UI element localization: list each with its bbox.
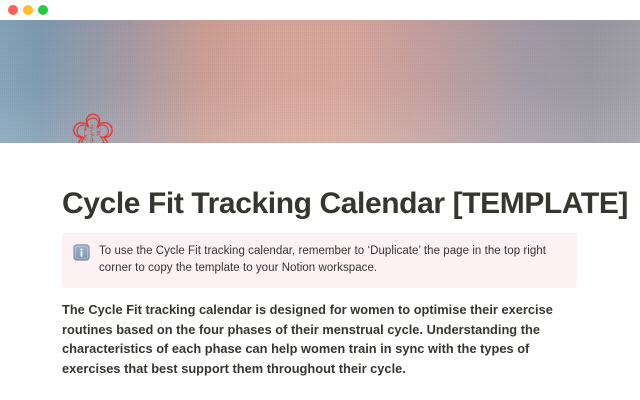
svg-text:た: た xyxy=(83,135,88,142)
traffic-light-buttons xyxy=(8,5,48,15)
maximize-window-button[interactable] xyxy=(38,5,48,15)
callout-block[interactable]: To use the Cycle Fit tracking calendar, … xyxy=(62,233,577,288)
window-titlebar xyxy=(0,0,640,20)
close-window-button[interactable] xyxy=(8,5,18,15)
app-window: 大 変 よ く で き ま し た Cycle Fit Tracking Cal… xyxy=(0,0,640,400)
callout-text: To use the Cycle Fit tracking calendar, … xyxy=(99,243,565,277)
page-title[interactable]: Cycle Fit Tracking Calendar [TEMPLATE] xyxy=(62,187,592,221)
information-icon xyxy=(73,244,90,261)
intro-paragraph[interactable]: The Cycle Fit tracking calendar is desig… xyxy=(62,300,562,378)
minimize-window-button[interactable] xyxy=(23,5,33,15)
page-content: Cycle Fit Tracking Calendar [TEMPLATE] xyxy=(0,143,640,400)
